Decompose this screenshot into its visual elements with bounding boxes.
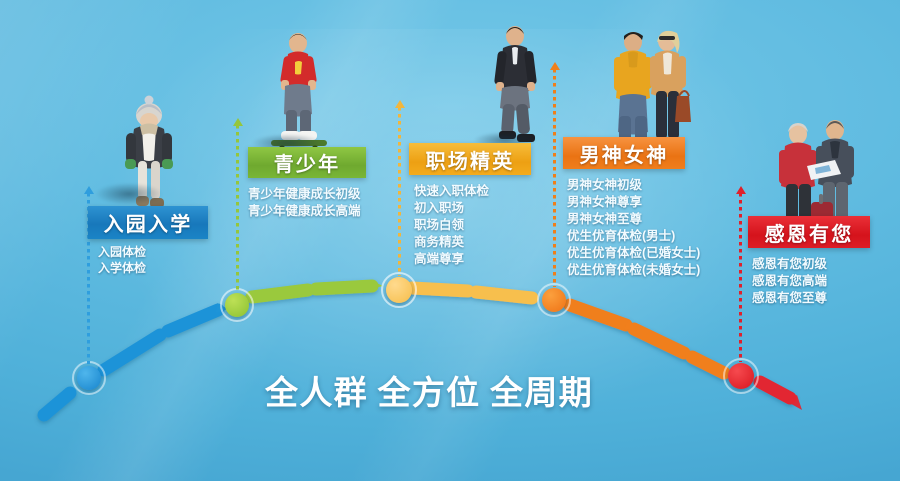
list-stage-5: 感恩有您初级 感恩有您高端 感恩有您至尊	[752, 256, 827, 307]
list-item: 男神女神至尊	[567, 211, 700, 228]
banner-label-stage-1: 入园入学	[104, 208, 193, 237]
list-item: 入学体检	[98, 260, 146, 276]
list-item: 男神女神初级	[567, 177, 700, 194]
list-item: 优生优育体检(已婚女士)	[567, 245, 700, 262]
banner-label-stage-4: 男神女神	[580, 139, 669, 168]
list-item: 感恩有您至尊	[752, 290, 827, 307]
banner-stage-5[interactable]: 感恩有您	[748, 216, 870, 248]
list-item: 感恩有您初级	[752, 256, 827, 273]
connector-stage-3	[398, 100, 401, 276]
banner-label-stage-5: 感恩有您	[765, 218, 854, 247]
connector-stage-2	[236, 118, 239, 292]
list-item: 初入职场	[414, 200, 489, 217]
list-item: 感恩有您高端	[752, 273, 827, 290]
banner-label-stage-2: 青少年	[274, 148, 341, 177]
banner-stage-4[interactable]: 男神女神	[563, 137, 685, 169]
banner-stage-2[interactable]: 青少年	[248, 147, 366, 178]
node-stage-5[interactable]	[723, 358, 759, 394]
list-item: 优生优育体检(男士)	[567, 228, 700, 245]
list-item: 商务精英	[414, 234, 489, 251]
list-item: 青少年健康成长高端	[248, 203, 361, 220]
list-stage-4: 男神女神初级 男神女神尊享 男神女神至尊 优生优育体检(男士) 优生优育体检(已…	[567, 177, 700, 279]
node-stage-4[interactable]	[537, 283, 571, 317]
list-item: 青少年健康成长初级	[248, 186, 361, 203]
banner-stage-3[interactable]: 职场精英	[409, 143, 531, 175]
list-item: 优生优育体检(未婚女士)	[567, 262, 700, 279]
connector-stage-5	[739, 186, 742, 362]
infographic-canvas: 入园入学 青少年 职场精英 男神女神 感恩有您 入园体检 入学体检 青少年健康成…	[0, 0, 900, 481]
page-title: 全人群 全方位 全周期	[265, 366, 593, 414]
list-item: 快速入职体检	[414, 183, 489, 200]
node-stage-2[interactable]	[220, 288, 254, 322]
list-stage-1: 入园体检 入学体检	[98, 244, 146, 277]
node-stage-1[interactable]	[72, 361, 106, 395]
list-item: 职场白领	[414, 217, 489, 234]
list-item: 男神女神尊享	[567, 194, 700, 211]
list-stage-2: 青少年健康成长初级 青少年健康成长高端	[248, 186, 361, 220]
banner-label-stage-3: 职场精英	[426, 145, 515, 174]
list-item: 入园体检	[98, 244, 146, 260]
node-stage-3[interactable]	[381, 272, 417, 308]
connector-stage-4	[553, 62, 556, 287]
list-stage-3: 快速入职体检 初入职场 职场白领 商务精英 高端尊享	[414, 183, 489, 268]
banner-stage-1[interactable]: 入园入学	[88, 206, 208, 239]
list-item: 高端尊享	[414, 251, 489, 268]
